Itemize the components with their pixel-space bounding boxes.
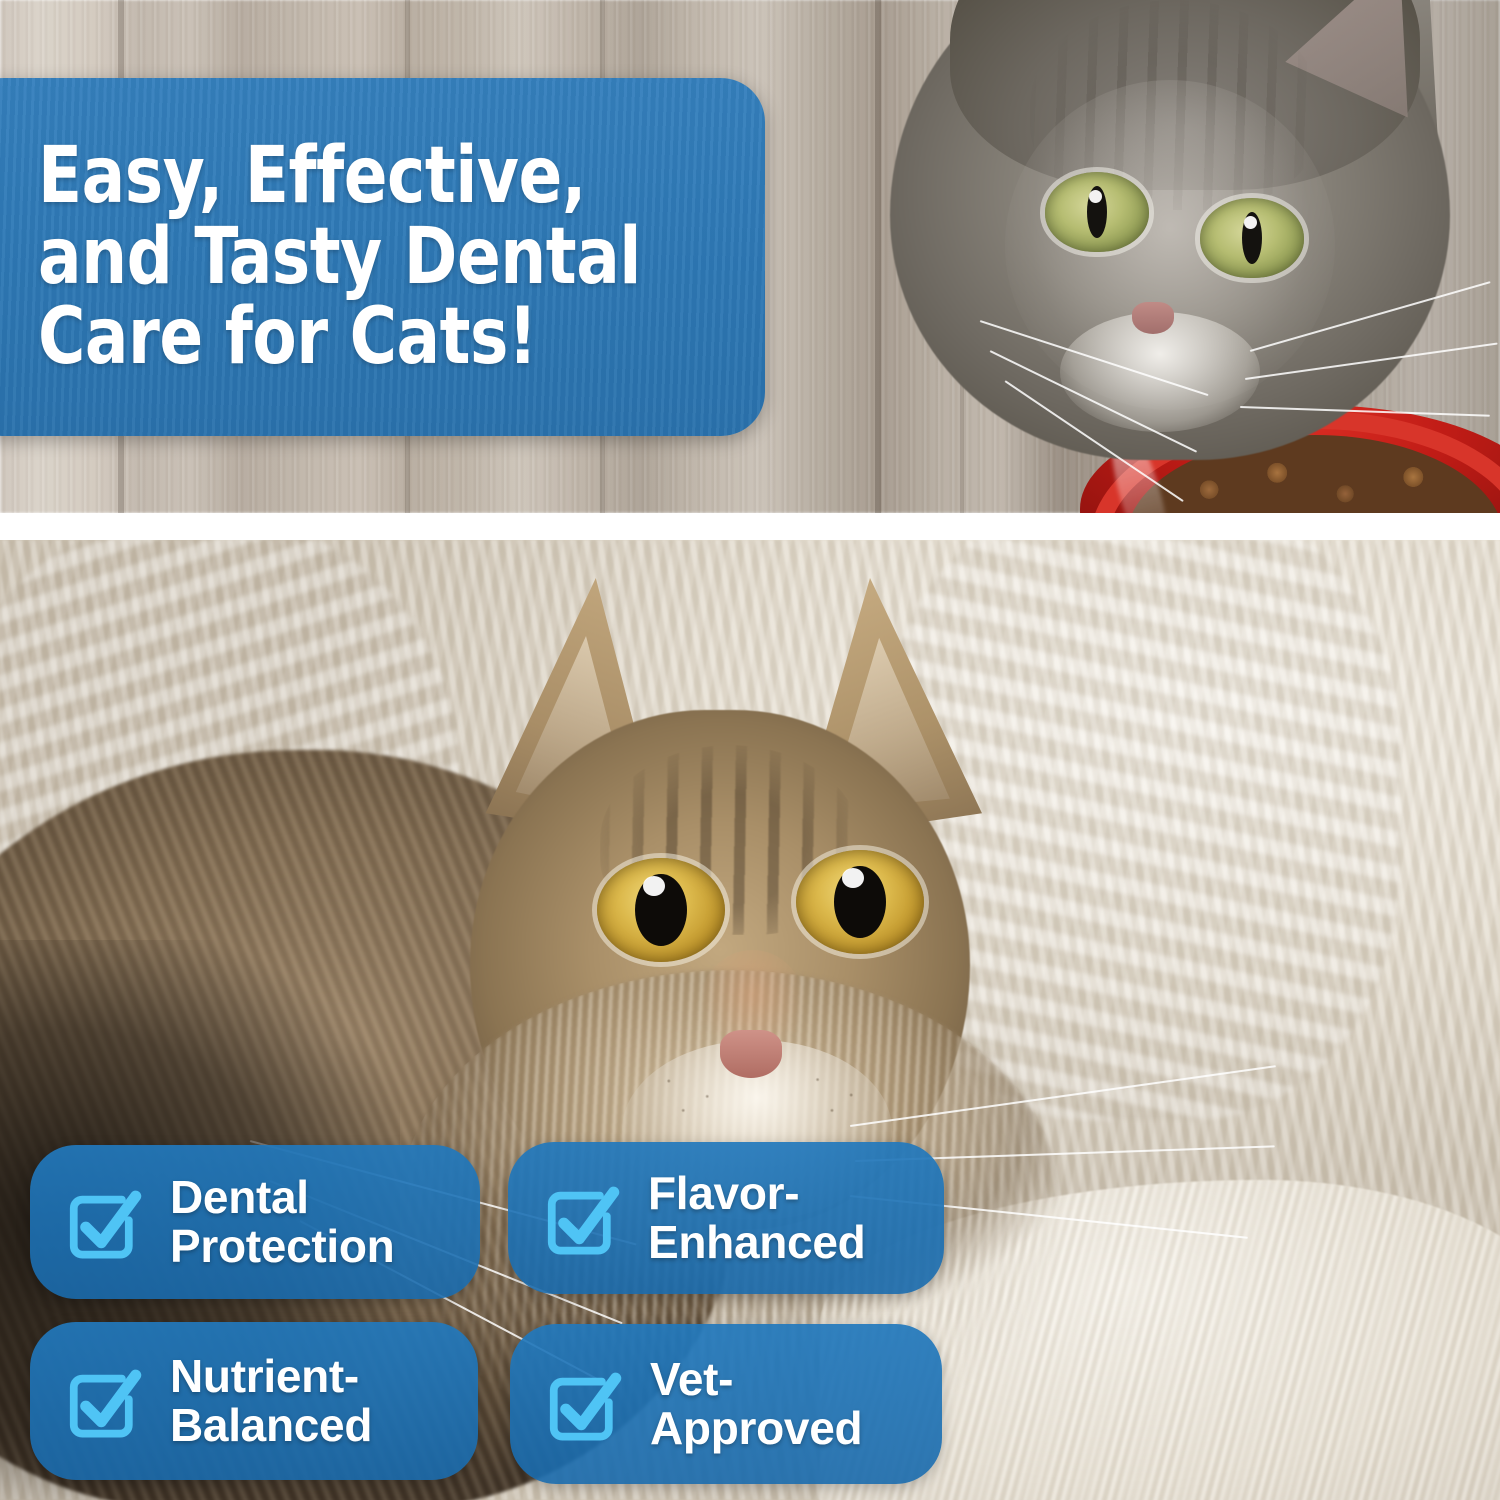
cat-left-eye bbox=[597, 858, 725, 962]
feature-label: Flavor- Enhanced bbox=[648, 1169, 865, 1267]
top-hero-image: Easy, Effective, and Tasty Dental Care f… bbox=[0, 0, 1500, 513]
feature-label: Dental Protection bbox=[170, 1173, 394, 1271]
page-title: Easy, Effective, and Tasty Dental Care f… bbox=[38, 136, 641, 378]
feature-badge-dental-protection[interactable]: Dental Protection bbox=[30, 1145, 480, 1299]
feature-label: Vet-Approved bbox=[650, 1355, 912, 1453]
checkbox-checked-icon bbox=[60, 1179, 146, 1265]
feature-badge-flavor-enhanced[interactable]: Flavor- Enhanced bbox=[508, 1142, 944, 1294]
checkbox-checked-icon bbox=[60, 1358, 146, 1444]
kitten-right-eye-glint bbox=[1244, 216, 1257, 229]
cat-right-eye-glint bbox=[842, 868, 864, 888]
checkbox-checked-icon bbox=[540, 1361, 626, 1447]
feature-label: Nutrient- Balanced bbox=[170, 1352, 372, 1450]
checkbox-checked-icon bbox=[538, 1175, 624, 1261]
hero-title-card: Easy, Effective, and Tasty Dental Care f… bbox=[0, 78, 765, 436]
kitten-nose bbox=[1132, 302, 1174, 334]
kitten-left-eye-glint bbox=[1089, 190, 1102, 203]
feature-badge-vet-approved[interactable]: Vet-Approved bbox=[510, 1324, 942, 1484]
cat-whisker-pads bbox=[640, 1060, 880, 1130]
cat-right-eye bbox=[796, 850, 924, 954]
cat-left-eye-glint bbox=[643, 876, 665, 896]
feature-badge-nutrient-balanced[interactable]: Nutrient- Balanced bbox=[30, 1322, 478, 1480]
product-infographic: Easy, Effective, and Tasty Dental Care f… bbox=[0, 0, 1500, 1500]
panel-divider bbox=[0, 513, 1500, 540]
kitten-right-eye bbox=[1200, 198, 1304, 278]
kitten-left-eye bbox=[1045, 172, 1149, 252]
grey-tabby-kitten bbox=[830, 0, 1500, 513]
